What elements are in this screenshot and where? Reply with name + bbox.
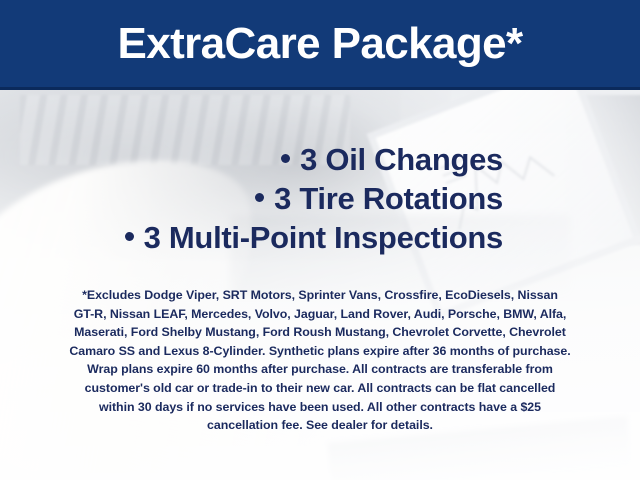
disclaimer-line: Maserati, Ford Shelby Mustang, Ford Rous… — [26, 323, 614, 342]
list-item: 3 Oil Changes — [0, 140, 503, 179]
extracare-package-ad: ExtraCare Package* 3 Oil Changes 3 Tire … — [0, 0, 640, 480]
disclaimer-line: *Excludes Dodge Viper, SRT Motors, Sprin… — [26, 286, 614, 305]
disclaimer-line: within 30 days if no services have been … — [26, 398, 614, 417]
benefit-label: 3 Multi-Point Inspections — [144, 220, 503, 255]
bullet-dot-icon — [255, 193, 264, 202]
list-item: 3 Multi-Point Inspections — [0, 218, 503, 257]
benefits-list: 3 Oil Changes 3 Tire Rotations 3 Multi-P… — [0, 140, 503, 257]
disclaimer-text: *Excludes Dodge Viper, SRT Motors, Sprin… — [26, 286, 614, 435]
bullet-dot-icon — [281, 154, 290, 163]
benefit-label: 3 Tire Rotations — [274, 181, 503, 216]
page-title: ExtraCare Package* — [117, 22, 522, 66]
benefit-label: 3 Oil Changes — [300, 142, 503, 177]
list-item: 3 Tire Rotations — [0, 179, 503, 218]
disclaimer-line: cancellation fee. See dealer for details… — [26, 416, 614, 435]
disclaimer-line: customer's old car or trade-in to their … — [26, 379, 614, 398]
header-band: ExtraCare Package* — [0, 0, 640, 90]
bullet-dot-icon — [125, 232, 134, 241]
disclaimer-line: GT-R, Nissan LEAF, Mercedes, Volvo, Jagu… — [26, 305, 614, 324]
disclaimer-line: Camaro SS and Lexus 8-Cylinder. Syntheti… — [26, 342, 614, 361]
disclaimer-line: Wrap plans expire 60 months after purcha… — [26, 360, 614, 379]
